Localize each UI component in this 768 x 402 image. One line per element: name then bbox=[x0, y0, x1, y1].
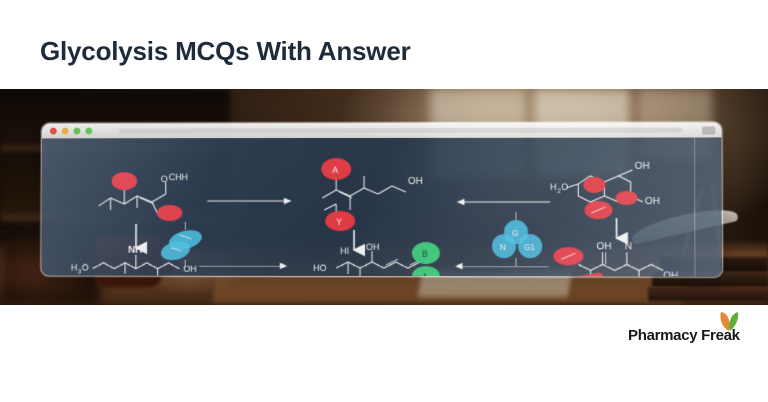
svg-text:O: O bbox=[161, 174, 168, 184]
svg-text:OH: OH bbox=[597, 241, 612, 252]
enzyme-circles-right: G N G1 bbox=[492, 220, 542, 258]
svg-text:NH: NH bbox=[128, 245, 142, 256]
svg-text:G1: G1 bbox=[524, 243, 535, 252]
svg-text:O: O bbox=[561, 182, 568, 192]
browser-viewport: O CHH H 3 bbox=[41, 138, 722, 278]
svg-text:OH: OH bbox=[663, 270, 678, 277]
molecule-bottom-right bbox=[578, 252, 663, 277]
glycolysis-reaction-diagram: O CHH H 3 bbox=[41, 138, 722, 278]
red-marker-2 bbox=[157, 205, 183, 221]
molecule-top-center bbox=[322, 176, 406, 214]
page-title: Glycolysis MCQs With Answer bbox=[40, 36, 411, 67]
book-stack-bottom bbox=[648, 287, 768, 301]
svg-text:G: G bbox=[512, 229, 518, 238]
svg-text:H: H bbox=[71, 263, 77, 273]
svg-text:B: B bbox=[422, 249, 428, 259]
hero-image: O CHH H 3 bbox=[0, 89, 768, 305]
svg-text:OH: OH bbox=[408, 176, 423, 187]
svg-text:HO: HO bbox=[313, 263, 326, 273]
svg-text:H: H bbox=[550, 182, 557, 192]
svg-text:A: A bbox=[422, 272, 428, 278]
svg-text:CHH: CHH bbox=[169, 172, 188, 182]
page-root: Glycolysis MCQs With Answer bbox=[0, 0, 768, 402]
svg-text:OH: OH bbox=[366, 242, 379, 252]
browser-titlebar bbox=[42, 122, 721, 138]
pharmacy-freak-logo[interactable]: Pharmacy Freak bbox=[628, 310, 742, 343]
svg-text:OH: OH bbox=[635, 161, 650, 172]
red-marker-5 bbox=[583, 177, 605, 193]
close-dot[interactable] bbox=[50, 128, 57, 135]
svg-text:O: O bbox=[82, 263, 89, 273]
svg-text:HI: HI bbox=[340, 246, 349, 256]
titlebar-menu-icon[interactable] bbox=[702, 126, 715, 134]
red-marker-1 bbox=[112, 172, 138, 190]
glass-browser-window[interactable]: O CHH H 3 bbox=[40, 121, 723, 277]
extra-dot[interactable] bbox=[85, 128, 92, 135]
address-bar[interactable] bbox=[119, 128, 683, 134]
svg-text:Y: Y bbox=[336, 217, 342, 227]
red-marker-9 bbox=[574, 272, 604, 278]
red-marker-6 bbox=[616, 191, 638, 205]
maximize-dot[interactable] bbox=[74, 128, 81, 135]
svg-text:OH: OH bbox=[645, 196, 660, 207]
leaf-icon bbox=[716, 310, 742, 332]
enzyme-pills-left bbox=[159, 227, 204, 263]
svg-text:N: N bbox=[500, 243, 506, 252]
svg-text:A: A bbox=[332, 165, 338, 175]
svg-text:N: N bbox=[625, 241, 632, 252]
minimize-dot[interactable] bbox=[62, 128, 69, 135]
